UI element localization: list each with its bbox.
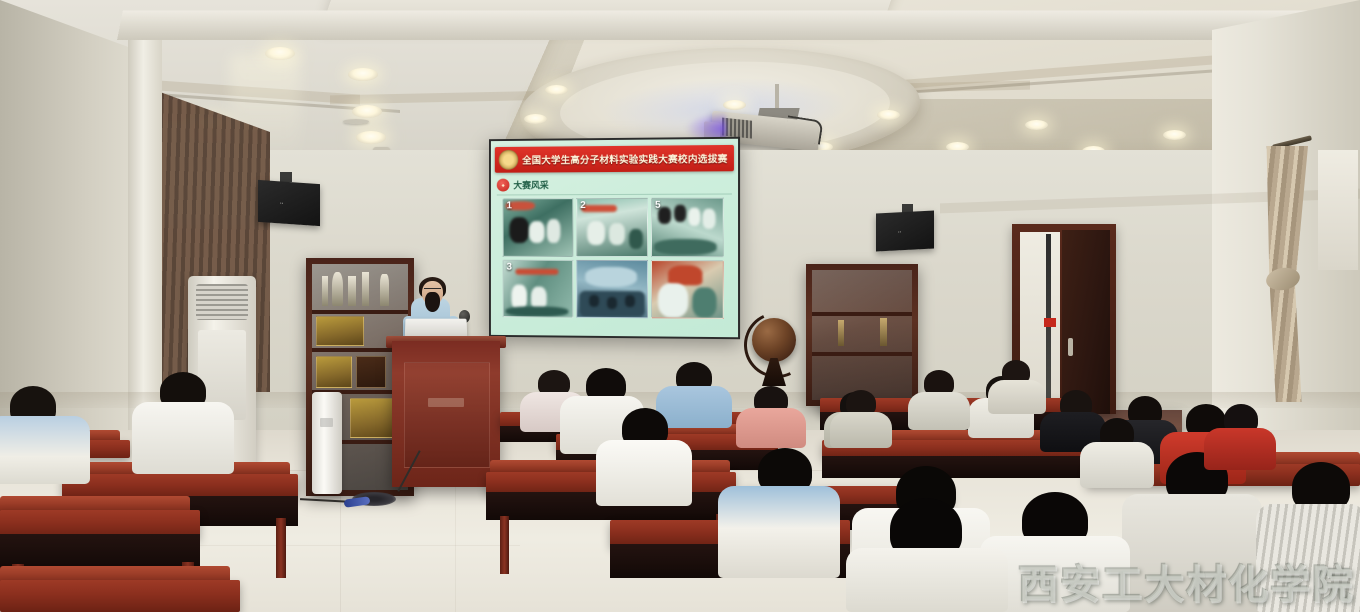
trophy bbox=[880, 318, 887, 346]
trophy bbox=[322, 276, 328, 306]
slide-photo-number: 5 bbox=[655, 200, 661, 211]
bench-shadow bbox=[822, 456, 1084, 478]
air-conditioner-grill bbox=[196, 284, 248, 320]
wall-speaker-left: •• bbox=[258, 180, 320, 226]
door-red-marker bbox=[1044, 318, 1056, 327]
slide-photo: 1 bbox=[503, 198, 574, 256]
podium-nameplate bbox=[428, 398, 464, 407]
slide-subtitle-group: ◆ 大赛风采 bbox=[497, 178, 549, 191]
bench-leg bbox=[276, 518, 286, 578]
water-cooler-label bbox=[320, 418, 333, 427]
award-plaque bbox=[316, 316, 364, 346]
bench-shadow bbox=[0, 534, 200, 570]
trophy bbox=[838, 320, 844, 346]
presenter-glasses bbox=[424, 288, 441, 294]
projection-screen: 全国大学生高分子材料实验实践大赛校内选拔赛 ◆ 大赛风采 1 2 bbox=[491, 139, 738, 337]
trophy bbox=[380, 274, 389, 306]
slide-photo bbox=[651, 260, 724, 319]
window-recess bbox=[1318, 150, 1358, 270]
ceiling-downlight bbox=[524, 114, 547, 124]
slide-photo-grid: 1 2 5 3 bbox=[503, 198, 724, 319]
lecture-hall-photo: •• •• 全国大学生高分子材料实验实践大赛校内选拔赛 ◆ 大赛风采 1 2 bbox=[0, 0, 1360, 612]
ceiling-downlight bbox=[877, 110, 900, 120]
projector-vent bbox=[722, 118, 752, 139]
ceiling-downlight bbox=[1025, 120, 1048, 130]
cabinet-glass bbox=[812, 270, 912, 400]
slide-photo bbox=[576, 259, 648, 318]
wall-speaker-right: •• bbox=[876, 210, 934, 251]
award-plaque bbox=[356, 356, 386, 388]
bullet-icon: ◆ bbox=[497, 179, 510, 192]
university-seal-icon bbox=[499, 150, 519, 170]
bench-desk bbox=[62, 474, 298, 498]
slide-photo-number: 3 bbox=[507, 261, 512, 272]
slide-photo-number: 1 bbox=[507, 200, 512, 211]
slide-photo: 2 bbox=[576, 198, 648, 257]
speaker-brand-label: •• bbox=[280, 200, 284, 205]
cabinet-shelf bbox=[812, 352, 912, 356]
slide-photo: 3 bbox=[503, 259, 574, 317]
floor-tile-line bbox=[455, 470, 456, 612]
slide-title: 全国大学生高分子材料实验实践大赛校内选拔赛 bbox=[522, 151, 727, 167]
bench-desk bbox=[0, 580, 240, 612]
award-plaque bbox=[316, 356, 352, 388]
ceiling-downlight bbox=[1163, 130, 1186, 140]
cabinet-shelf bbox=[312, 310, 408, 314]
ceiling-soffit-edge bbox=[117, 10, 1360, 40]
trophy bbox=[348, 276, 356, 306]
ceiling-vent bbox=[343, 119, 369, 124]
decorative-drum bbox=[752, 318, 796, 362]
ceiling-downlight bbox=[723, 100, 746, 110]
slide-photo: 5 bbox=[651, 198, 724, 257]
slide-title-bar: 全国大学生高分子材料实验实践大赛校内选拔赛 bbox=[495, 145, 734, 173]
slide-divider bbox=[497, 193, 732, 195]
trophy bbox=[362, 272, 369, 306]
ceiling-downlight bbox=[348, 68, 378, 81]
water-cooler bbox=[312, 392, 342, 494]
trophy bbox=[332, 272, 343, 306]
bench-leg bbox=[500, 516, 509, 574]
entry-door-leaf[interactable] bbox=[1062, 230, 1110, 414]
slide-photo-number: 2 bbox=[580, 200, 586, 211]
door-handle[interactable] bbox=[1068, 338, 1073, 356]
speaker-brand-label: •• bbox=[898, 229, 902, 234]
ceiling-downlight bbox=[356, 131, 386, 144]
ceiling-downlight bbox=[352, 105, 382, 118]
cabinet-shelf bbox=[812, 312, 912, 316]
ceiling-downlight bbox=[545, 85, 568, 95]
slide-subtitle: 大赛风采 bbox=[513, 178, 548, 191]
presenter-hair-front bbox=[425, 292, 440, 312]
